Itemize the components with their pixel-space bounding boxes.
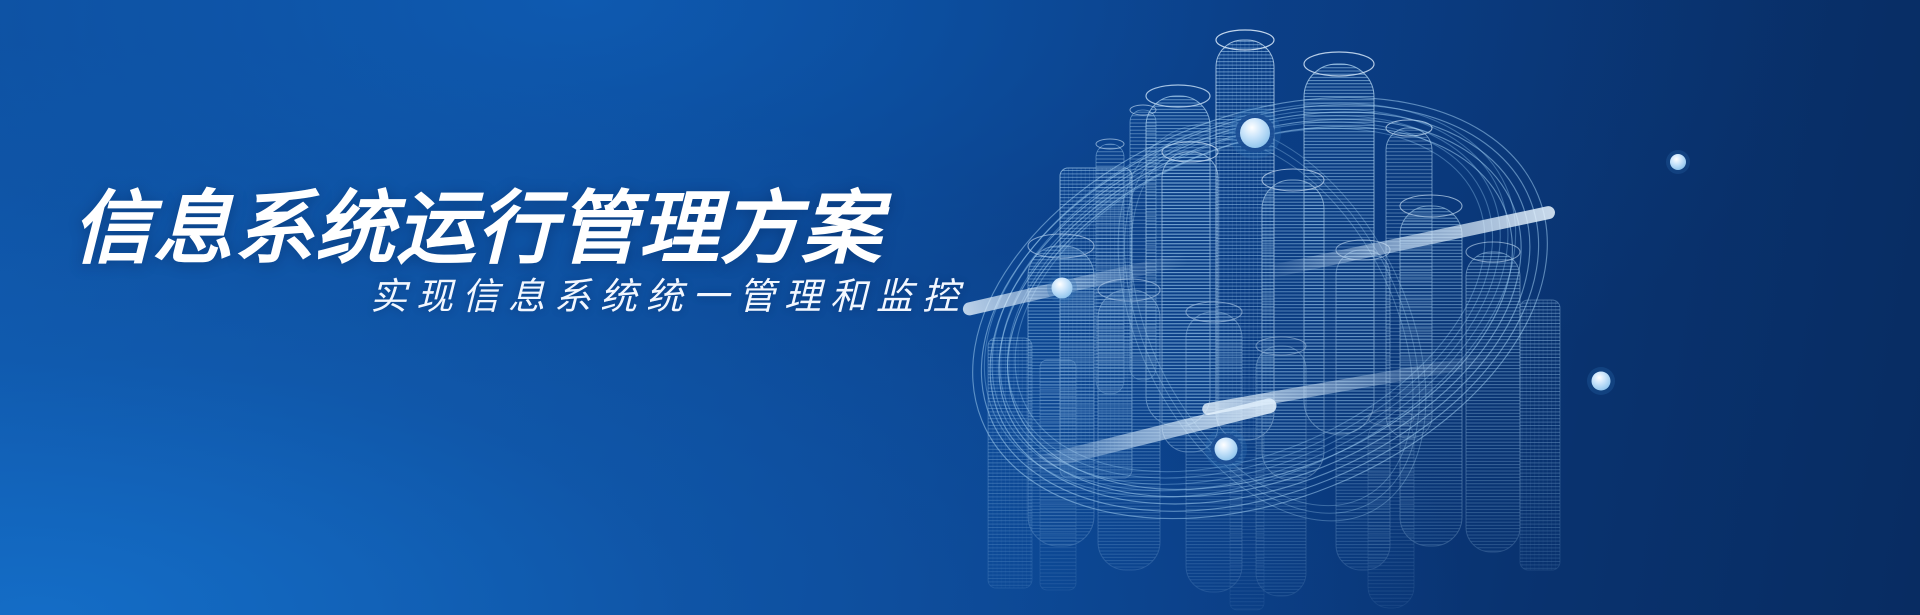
hero-text-block: 信息系统运行管理方案 实现信息系统统一管理和监控 bbox=[0, 0, 1000, 615]
node-small-right bbox=[1666, 150, 1690, 174]
tower-right-2 bbox=[1466, 242, 1520, 552]
tower-right-4 bbox=[1520, 300, 1560, 570]
isometric-wireframe-city-graphic bbox=[900, 0, 1920, 615]
page-subtitle: 实现信息系统统一管理和监控 bbox=[370, 273, 968, 321]
page-title: 信息系统运行管理方案 bbox=[72, 183, 882, 275]
node-top-left bbox=[1229, 107, 1281, 159]
node-bottom-mid bbox=[1205, 428, 1247, 470]
node-mid-left bbox=[1047, 273, 1077, 303]
node-bottom-right bbox=[1587, 367, 1615, 395]
banner-hero: 信息系统运行管理方案 实现信息系统统一管理和监控 bbox=[0, 0, 1920, 615]
tower-front-2 bbox=[1098, 279, 1160, 570]
